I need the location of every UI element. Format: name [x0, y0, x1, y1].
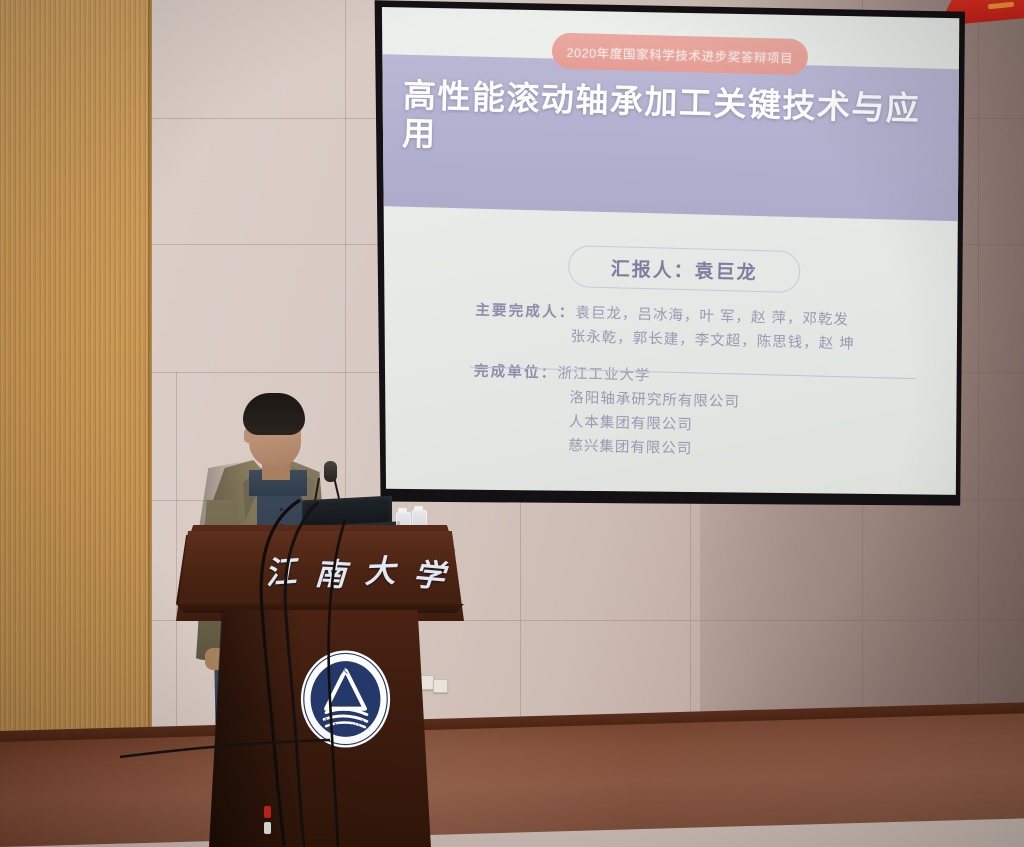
slide-title: 高性能滚动轴承加工关键技术与应用: [402, 77, 948, 167]
slide-metadata: 主要完成人： 袁巨龙，吕冰海，叶 军，赵 萍，邓乾发 张永乾，郭长建，李文超，陈…: [472, 299, 915, 467]
contributors-label: 主要完成人：: [475, 299, 576, 326]
podium-name-char-0: 江: [263, 545, 297, 592]
units-label: 完成单位：: [474, 360, 558, 386]
projection-screen: 2020年度国家科学技术进步奖答辩项目 高性能滚动轴承加工关键技术与应用 汇报人…: [379, 2, 964, 508]
slide-presenter-text: 汇报人：袁巨龙: [610, 254, 758, 285]
wall-tile-line: [520, 500, 521, 740]
wood-slat-wall-panel: [0, 0, 152, 752]
podium-name-char-3: 学: [412, 548, 447, 596]
bottle-cap: [398, 508, 407, 513]
podium-university-name: 江 南 大 学: [265, 548, 445, 590]
wall-tile-line: [176, 372, 177, 740]
slide-badge-text: 2020年度国家科学技术进步奖答辩项目: [566, 41, 793, 66]
podium-name-char-1: 南: [313, 548, 346, 595]
presentation-slide: 2020年度国家科学技术进步奖答辩项目 高性能滚动轴承加工关键技术与应用 汇报人…: [379, 2, 964, 508]
wall-socket[interactable]: [433, 679, 448, 693]
wall-tile-line: [690, 500, 691, 740]
university-emblem: 江南大学 JIANGNAN UNIVERSITY: [297, 648, 394, 750]
slide-badge: 2020年度国家科学技术进步奖答辩项目: [552, 33, 809, 76]
bottle-cap: [414, 506, 423, 511]
shirt-button: [280, 508, 283, 511]
podium-name-char-2: 大: [364, 545, 397, 591]
microphone-icon: [324, 461, 337, 482]
presenter-hair: [243, 393, 305, 435]
conference-room-photo: 2020年度国家科学技术进步奖答辩项目 高性能滚动轴承加工关键技术与应用 汇报人…: [0, 0, 1024, 847]
podium-column-shadow: [209, 610, 305, 847]
slide-presenter-pill: 汇报人：袁巨龙: [568, 245, 801, 293]
banner-glint: [988, 2, 1014, 10]
